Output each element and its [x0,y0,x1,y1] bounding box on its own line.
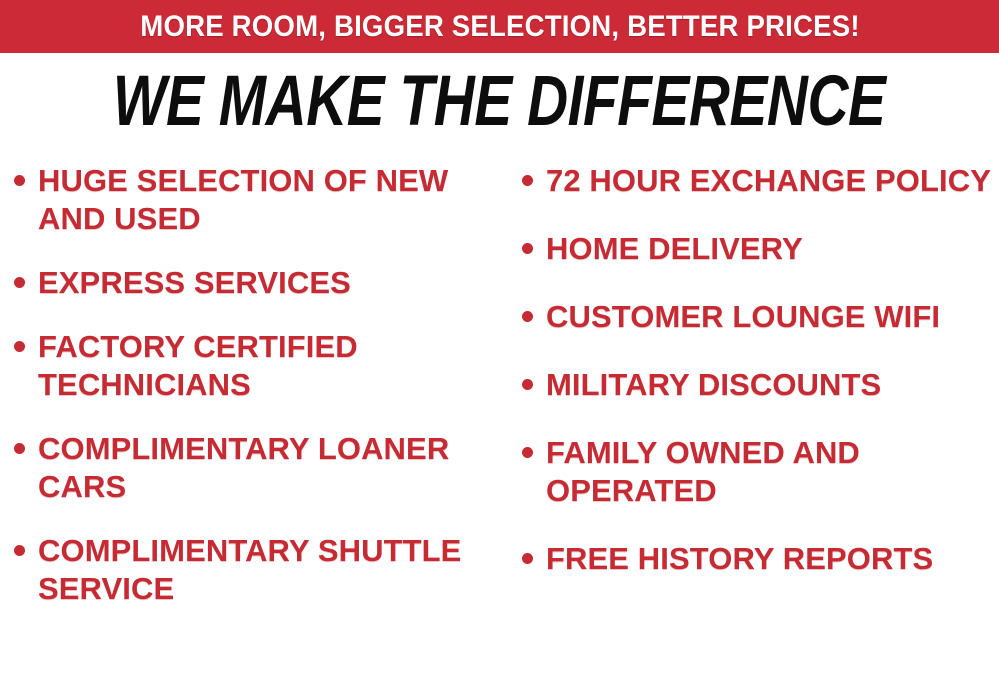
bullet-dot-icon [14,545,25,556]
bullet-dot-icon [14,175,25,186]
list-item: FREE HISTORY REPORTS [522,540,999,578]
list-item: 72 HOUR EXCHANGE POLICY [522,162,999,200]
list-item: FAMILY OWNED AND OPERATED [522,434,999,510]
bullet-dot-icon [14,443,25,454]
promo-banner: MORE ROOM, BIGGER SELECTION, BETTER PRIC… [0,0,999,53]
list-item: COMPLIMENTARY SHUTTLE SERVICE [14,532,505,608]
list-item: HUGE SELECTION OF NEW AND USED [14,162,505,238]
list-item-label: CUSTOMER LOUNGE WIFI [546,298,940,336]
list-item-label: MILITARY DISCOUNTS [546,366,881,404]
list-item-label: FREE HISTORY REPORTS [546,540,933,578]
benefits-column-right: 72 HOUR EXCHANGE POLICY HOME DELIVERY CU… [505,152,999,608]
benefits-columns: HUGE SELECTION OF NEW AND USED EXPRESS S… [0,152,999,692]
advertisement-graphic: MORE ROOM, BIGGER SELECTION, BETTER PRIC… [0,0,999,692]
promo-banner-text: MORE ROOM, BIGGER SELECTION, BETTER PRIC… [140,12,859,42]
page-title: WE MAKE THE DIFFERENCE [113,62,886,138]
bullet-dot-icon [14,341,25,352]
list-item-label: EXPRESS SERVICES [38,264,351,302]
list-item: EXPRESS SERVICES [14,264,505,302]
list-item-label: HOME DELIVERY [546,230,803,268]
list-item-label: COMPLIMENTARY LOANER CARS [38,430,490,506]
bullet-dot-icon [522,379,533,390]
list-item-label: HUGE SELECTION OF NEW AND USED [38,162,490,238]
list-item-label: FACTORY CERTIFIED TECHNICIANS [38,328,490,404]
list-item: CUSTOMER LOUNGE WIFI [522,298,999,336]
list-item-label: 72 HOUR EXCHANGE POLICY [546,162,991,200]
bullet-dot-icon [522,553,533,564]
list-item: FACTORY CERTIFIED TECHNICIANS [14,328,505,404]
bullet-dot-icon [14,277,25,288]
bullet-dot-icon [522,311,533,322]
list-item-label: FAMILY OWNED AND OPERATED [546,434,994,510]
list-item: HOME DELIVERY [522,230,999,268]
benefits-column-left: HUGE SELECTION OF NEW AND USED EXPRESS S… [0,152,505,634]
list-item-label: COMPLIMENTARY SHUTTLE SERVICE [38,532,490,608]
bullet-dot-icon [522,447,533,458]
list-item: COMPLIMENTARY LOANER CARS [14,430,505,506]
bullet-dot-icon [522,243,533,254]
bullet-dot-icon [522,175,533,186]
headline-container: WE MAKE THE DIFFERENCE [0,57,999,143]
list-item: MILITARY DISCOUNTS [522,366,999,404]
